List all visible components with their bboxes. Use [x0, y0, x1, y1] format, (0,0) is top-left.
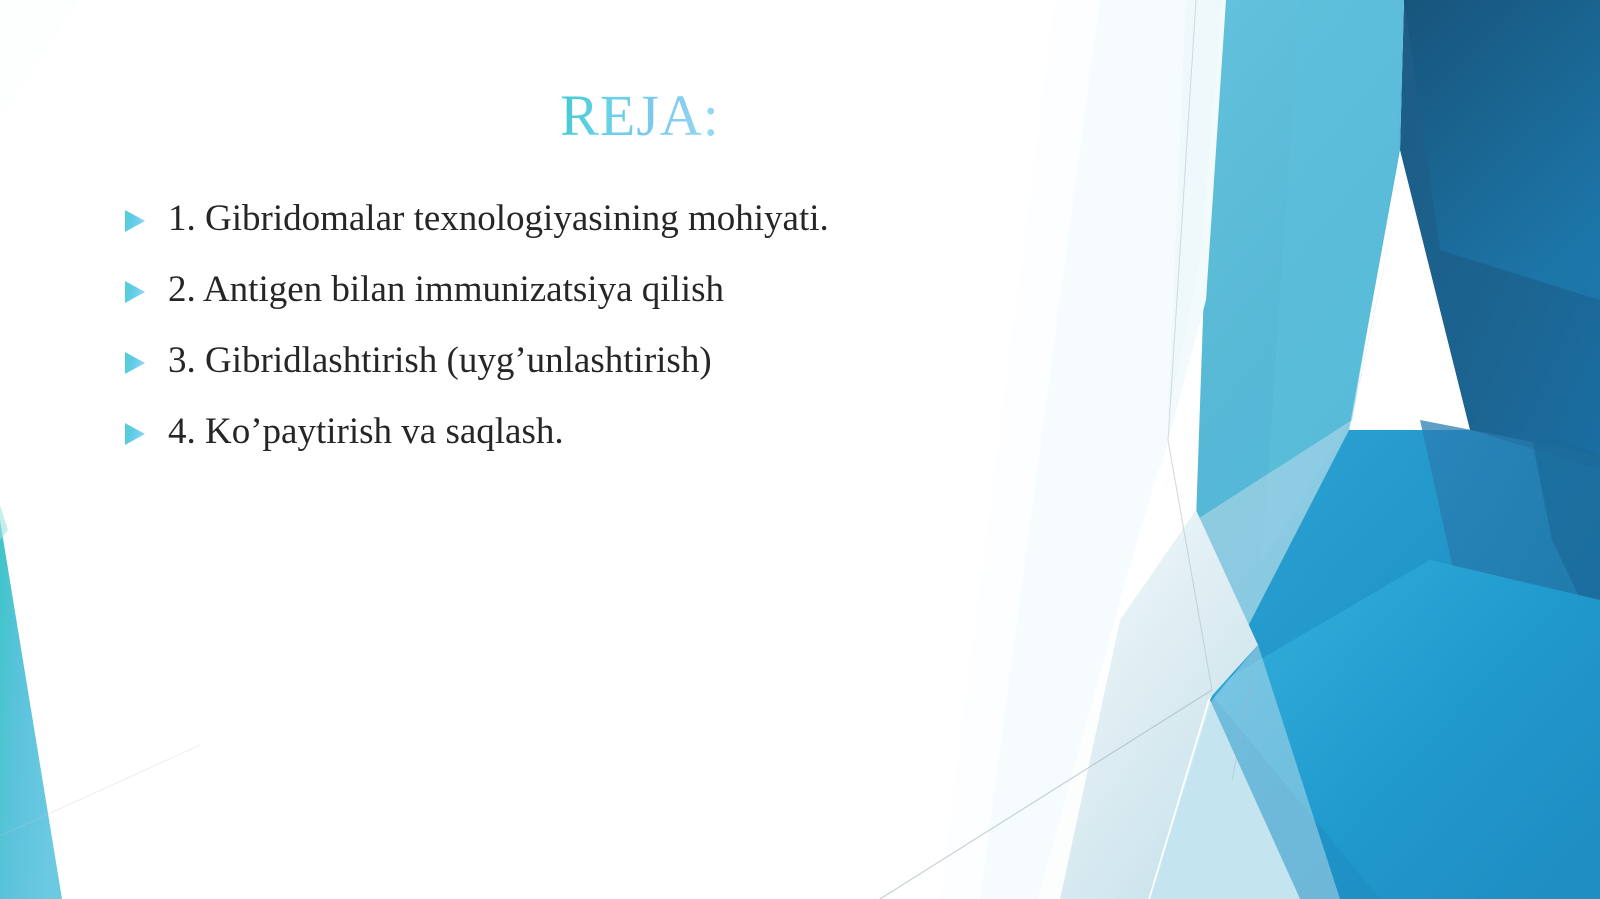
list-item-label: 2. Antigen bilan immunizatsiya qilish: [168, 267, 724, 313]
page-title: REJA:: [560, 86, 720, 147]
list-item: 1. Gibridomalar texnologiyasining mohiya…: [124, 196, 1164, 267]
list-item-label: 1. Gibridomalar texnologiyasining mohiya…: [168, 196, 829, 242]
list-item: 2. Antigen bilan immunizatsiya qilish: [124, 267, 1164, 338]
triangle-right-icon: [124, 280, 146, 304]
presentation-slide: REJA: 1. Gibridomalar texnologiyasining …: [0, 0, 1600, 899]
list-item-label: 4. Ko’paytirish va saqlash.: [168, 409, 564, 455]
list-item-label: 3. Gibridlashtirish (uyg’unlashtirish): [168, 338, 712, 384]
triangle-right-icon: [124, 351, 146, 375]
bullet-list: 1. Gibridomalar texnologiyasining mohiya…: [124, 196, 1164, 480]
triangle-right-icon: [124, 209, 146, 233]
list-item: 4. Ko’paytirish va saqlash.: [124, 409, 1164, 480]
title-container: REJA:: [0, 86, 1280, 147]
list-item: 3. Gibridlashtirish (uyg’unlashtirish): [124, 338, 1164, 409]
triangle-right-icon: [124, 422, 146, 446]
